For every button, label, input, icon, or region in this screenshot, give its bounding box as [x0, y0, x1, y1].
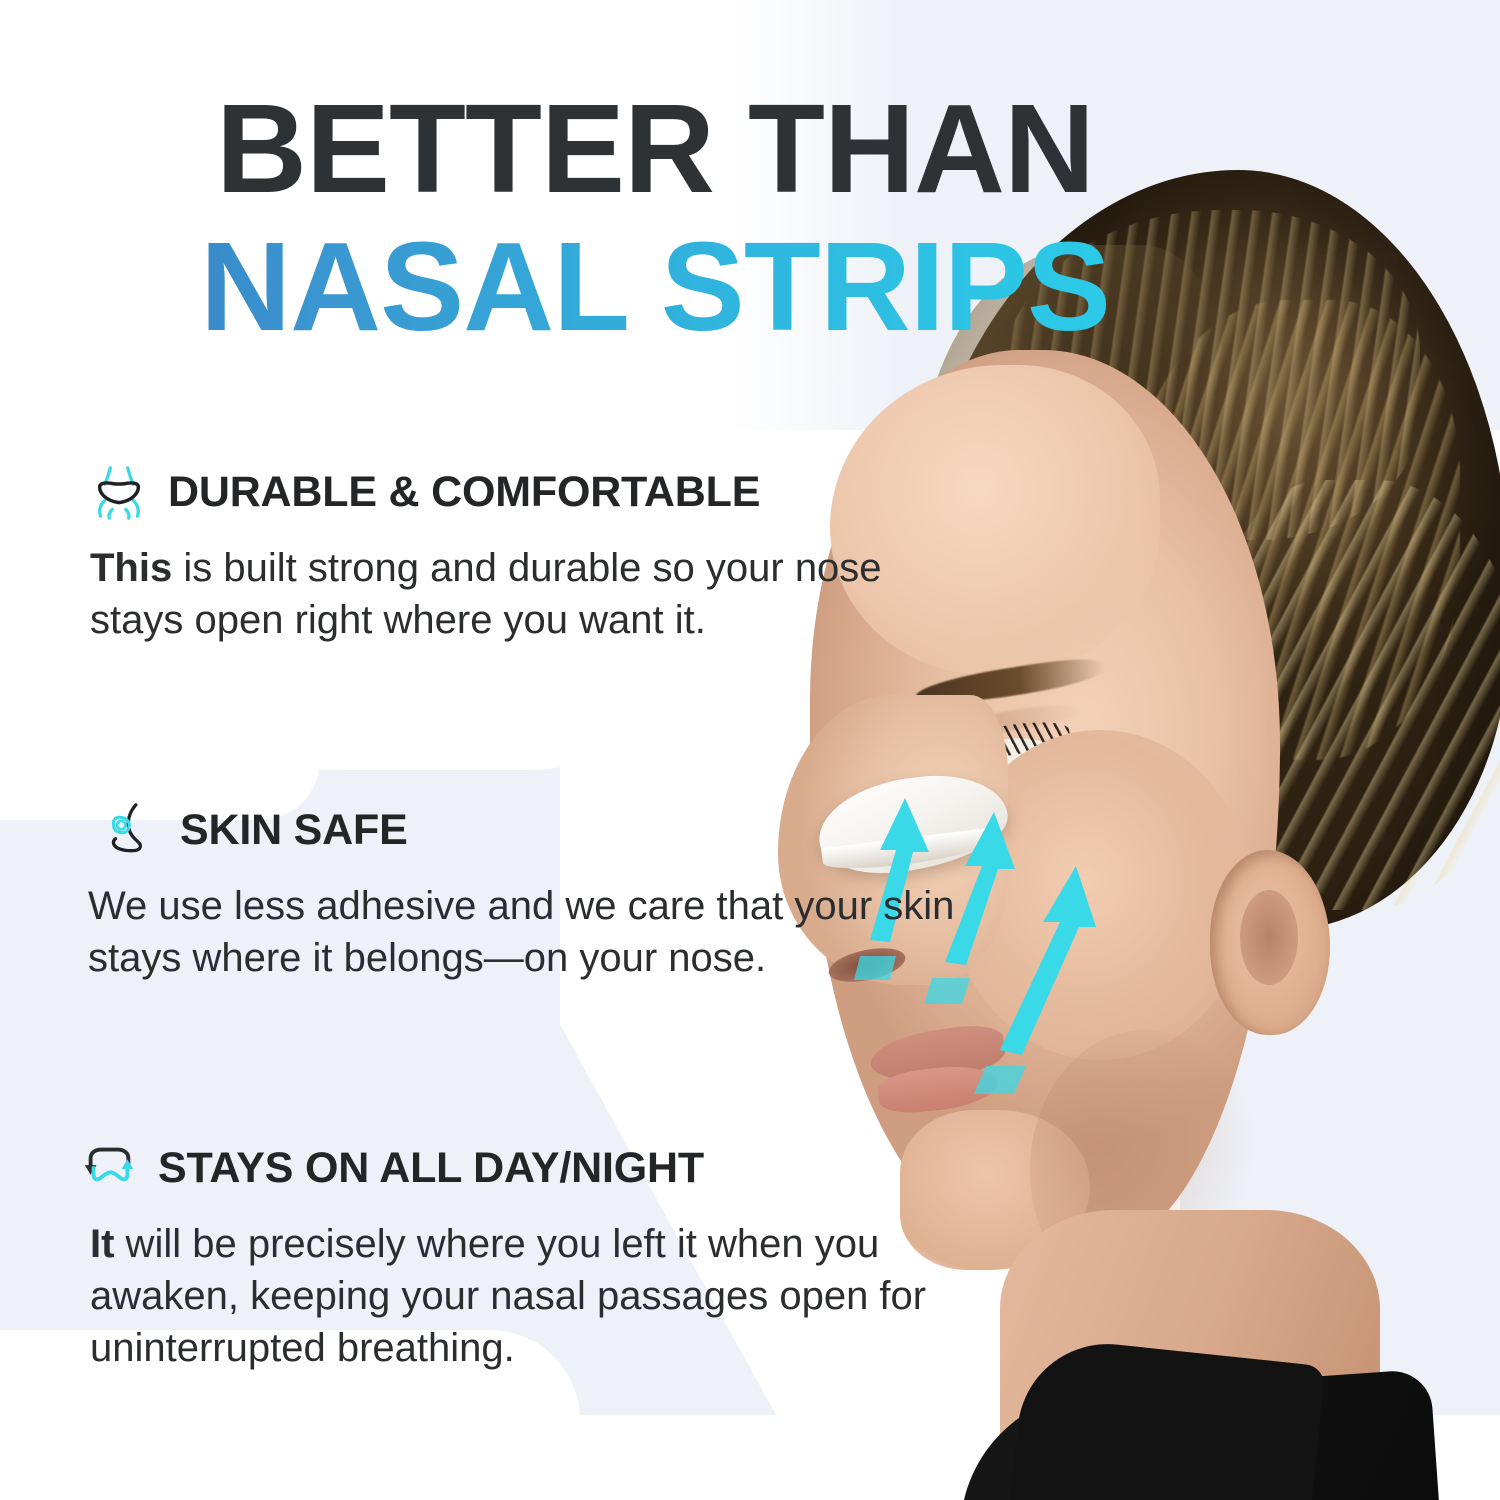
- feature-1-body-rest: is built strong and durable so your nose…: [90, 546, 882, 642]
- feature-3-body-rest: will be precisely where you left it when…: [90, 1222, 926, 1370]
- feature-3-header: STAYS ON ALL DAY/NIGHT: [78, 1138, 960, 1198]
- nasal-strip-cycle-icon: [78, 1138, 140, 1198]
- feature-1-body-lead: This: [90, 546, 172, 590]
- feature-3-body: It will be precisely where you left it w…: [90, 1218, 960, 1374]
- feature-3-body-lead: It: [90, 1222, 114, 1266]
- feature-2-title: SKIN SAFE: [180, 809, 408, 852]
- feature-2-body-rest: We use less adhesive and we care that yo…: [88, 884, 954, 980]
- feature-1-title: DURABLE & COMFORTABLE: [168, 471, 760, 514]
- headline-line-1: BETTER THAN: [0, 86, 1310, 212]
- feature-durable-comfortable: DURABLE & COMFORTABLE This is built stro…: [88, 462, 960, 646]
- headline-line-2: NASAL STRIPS: [0, 224, 1310, 350]
- feature-3-title: STAYS ON ALL DAY/NIGHT: [158, 1147, 704, 1190]
- page-title: BETTER THAN NASAL STRIPS: [0, 86, 1310, 350]
- feature-2-header: SKIN SAFE: [100, 800, 960, 860]
- nose-profile-patch-icon: [100, 800, 162, 860]
- nose-front-airflow-icon: [88, 462, 150, 522]
- feature-1-header: DURABLE & COMFORTABLE: [88, 462, 960, 522]
- feature-1-body: This is built strong and durable so your…: [90, 542, 960, 646]
- feature-stays-on-all-day-night: STAYS ON ALL DAY/NIGHT It will be precis…: [78, 1138, 960, 1374]
- feature-skin-safe: SKIN SAFE We use less adhesive and we ca…: [100, 800, 960, 984]
- feature-2-body: We use less adhesive and we care that yo…: [88, 880, 960, 984]
